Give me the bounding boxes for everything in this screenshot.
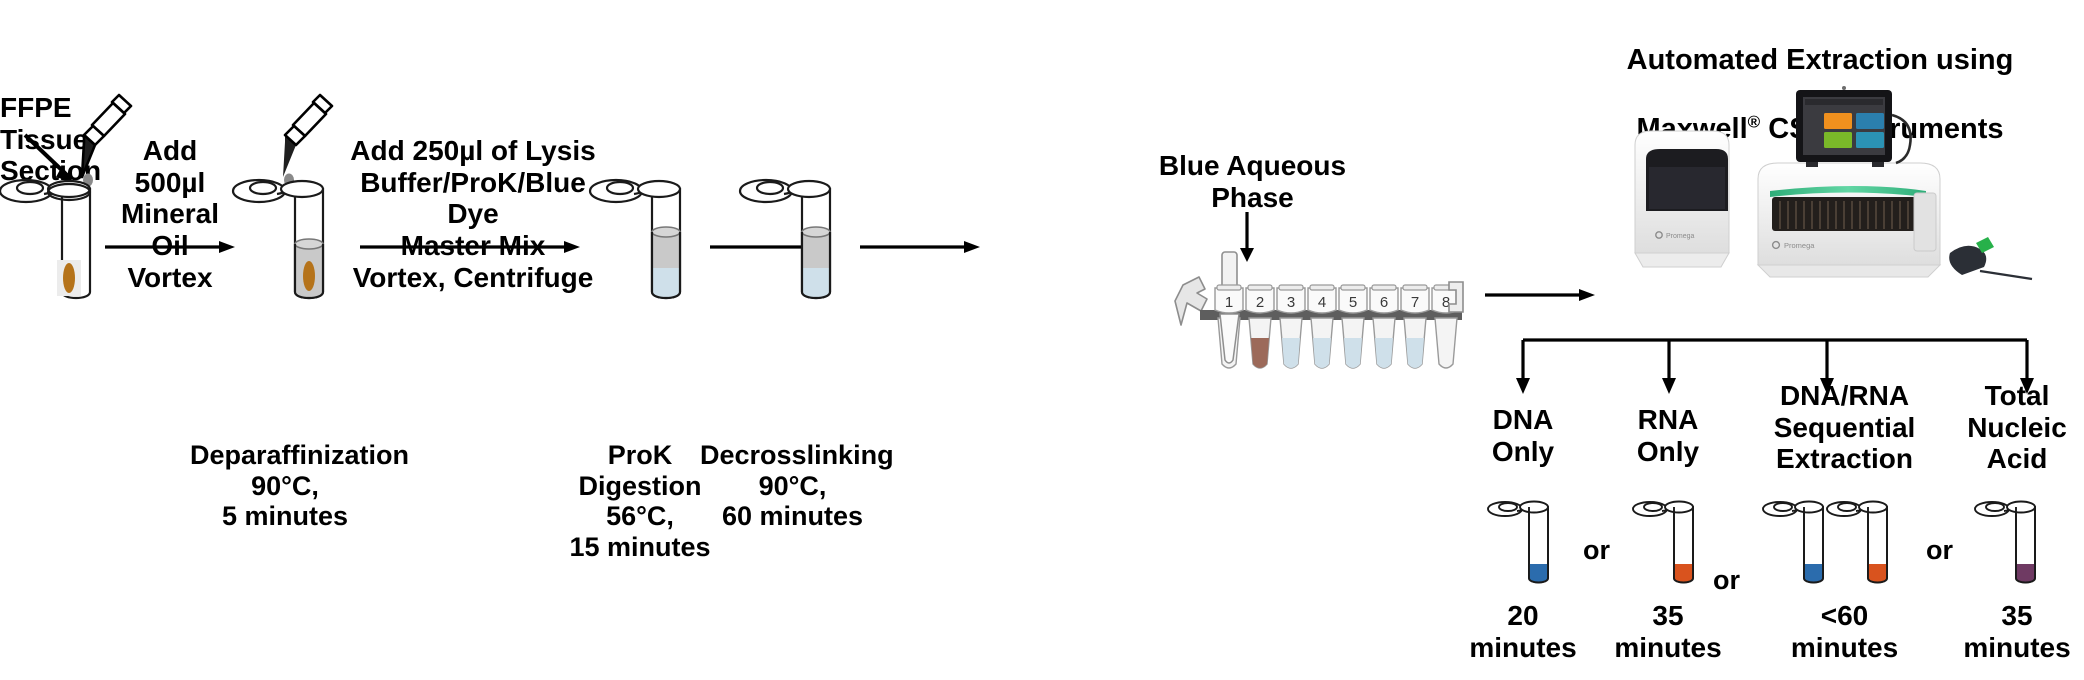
- rack-well-liquid-3: [1282, 338, 1300, 368]
- rack-well-number-7: 7: [1411, 294, 1419, 311]
- output-time-rna-only: 35 minutes: [1608, 600, 1728, 663]
- tube-deparaffinization: [233, 172, 338, 304]
- or-separator-1: or: [1583, 535, 1610, 566]
- pipette-icon-2: [277, 92, 337, 184]
- output-label-dna-only: DNA Only: [1463, 404, 1583, 467]
- rack-well-number-1: 1: [1225, 294, 1233, 311]
- output-tube-sequential-rna: [1827, 496, 1899, 588]
- promega-brand-text: Promega: [1784, 241, 1815, 250]
- tube-prok-digestion: [590, 172, 695, 304]
- output-tube-dna-only: [1488, 496, 1560, 588]
- blue-aqueous-phase-label: Blue Aqueous Phase: [1130, 150, 1375, 213]
- rack-well-liquid-5: [1344, 338, 1362, 368]
- step1-arrow-below-label: Vortex: [105, 262, 235, 294]
- rack-well-5[interactable]: 5: [1339, 285, 1367, 368]
- rack-well-liquid-2: [1251, 338, 1269, 368]
- rack-well-number-2: 2: [1256, 294, 1264, 311]
- output-label-rna-only: RNA Only: [1608, 404, 1728, 467]
- tile-orange-icon: [1824, 113, 1852, 129]
- instrument-title-line1: Automated Extraction using: [1627, 44, 2014, 76]
- rack-well-6[interactable]: 6: [1370, 285, 1398, 368]
- process-arrow-4: [860, 240, 980, 254]
- pcr-strip-rack: 12345678: [1175, 252, 1475, 382]
- svg-text:Promega: Promega: [1666, 233, 1695, 240]
- barcode-scanner: [1949, 237, 2032, 279]
- instrument-tablet: [1796, 86, 1911, 167]
- output-tube-total-nucleic-acid: [1975, 496, 2047, 588]
- output-time-dna-only: 20 minutes: [1463, 600, 1583, 663]
- rack-well-number-3: 3: [1287, 294, 1295, 311]
- rack-well-number-4: 4: [1318, 294, 1326, 311]
- output-label-dna-rna-sequential: DNA/RNA Sequential Extraction: [1757, 380, 1932, 475]
- rack-well-7[interactable]: 7: [1401, 285, 1429, 368]
- rack-well-4[interactable]: 4: [1308, 285, 1336, 368]
- rack-well-liquid-6: [1375, 338, 1393, 368]
- rack-well-liquid-7: [1406, 338, 1424, 368]
- tile-blue-icon: [1856, 113, 1884, 129]
- rack-well-2[interactable]: 2: [1246, 285, 1274, 368]
- output-label-total-nucleic-acid: Total Nucleic Acid: [1952, 380, 2082, 475]
- or-separator-2: or: [1713, 565, 1740, 596]
- rack-well-liquid-4: [1313, 338, 1331, 368]
- step4-caption: Decrosslinking 90°C, 60 minutes: [700, 440, 885, 532]
- rack-well-3[interactable]: 3: [1277, 285, 1305, 368]
- rack-well-number-6: 6: [1380, 294, 1388, 311]
- rack-well-number-5: 5: [1349, 294, 1357, 311]
- maxwell-left-unit: Promega: [1635, 131, 1729, 267]
- tube-decrosslinking: [740, 172, 845, 304]
- process-arrow-1: [105, 240, 235, 254]
- or-separator-3: or: [1926, 535, 1953, 566]
- tube-ffpe-section: [0, 172, 105, 304]
- process-arrow-5: [1485, 288, 1595, 302]
- tile-teal-icon: [1856, 132, 1884, 148]
- output-time-total-nucleic-acid: 35 minutes: [1952, 600, 2082, 663]
- output-tube-sequential-dna: [1763, 496, 1835, 588]
- output-time-sequential: <60 minutes: [1757, 600, 1932, 663]
- step2-arrow-below-label: Vortex, Centrifuge: [348, 262, 598, 294]
- process-arrow-2: [360, 240, 580, 254]
- maxwell-instruments-illustration: Promega Promega: [1590, 75, 2060, 280]
- maxwell-right-unit: Promega: [1758, 163, 1940, 277]
- output-tube-rna-only: [1633, 496, 1705, 588]
- step2-caption: Deparaffinization 90°C, 5 minutes: [190, 440, 380, 532]
- tile-green-icon: [1824, 132, 1852, 148]
